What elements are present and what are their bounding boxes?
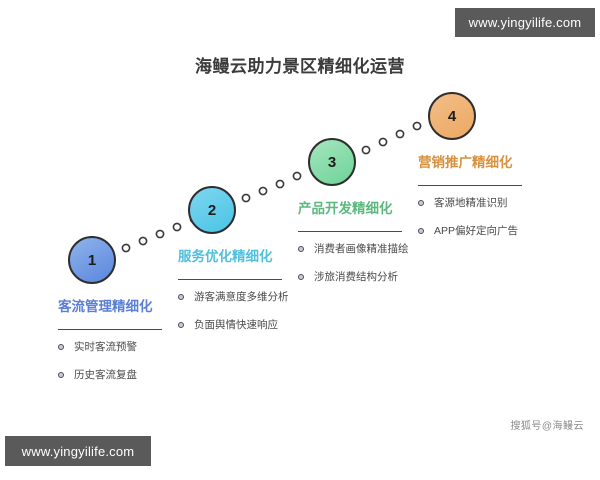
list-item: 负面舆情快速响应 (178, 318, 294, 333)
step-2-divider (178, 279, 282, 280)
list-item: 历史客流复盘 (58, 368, 174, 383)
step-4-number-badge: 4 (428, 92, 476, 140)
bullet-dot-icon (58, 372, 64, 378)
list-item-label: 游客满意度多维分析 (194, 291, 289, 303)
step-2-heading: 服务优化精细化 (178, 247, 286, 266)
list-item-label: 历史客流复盘 (74, 369, 137, 381)
list-item: 客源地精准识别 (418, 196, 534, 211)
watermark-bottom-left: www.yingyilife.com (5, 436, 151, 466)
step-1-divider (58, 329, 162, 330)
step-3-divider (298, 231, 402, 232)
step-3[interactable]: 3 产品开发精细化 消费者画像精准描绘 涉旅消费结构分析 (298, 138, 418, 299)
page-title: 海鳗云助力景区精细化运营 (0, 52, 600, 77)
bullet-dot-icon (58, 344, 64, 350)
bullet-dot-icon (418, 228, 424, 234)
bullet-dot-icon (298, 246, 304, 252)
list-item-label: 消费者画像精准描绘 (314, 243, 409, 255)
step-4[interactable]: 4 营销推广精细化 客源地精准识别 APP偏好定向广告 (418, 92, 538, 253)
step-4-heading: 营销推广精细化 (418, 153, 526, 172)
step-1[interactable]: 1 客流管理精细化 实时客流预警 历史客流复盘 (58, 236, 178, 397)
step-1-heading: 客流管理精细化 (58, 297, 166, 316)
bullet-dot-icon (178, 322, 184, 328)
list-item-label: APP偏好定向广告 (434, 225, 518, 237)
step-2-bullet-list: 游客满意度多维分析 负面舆情快速响应 (178, 290, 294, 333)
list-item-label: 实时客流预警 (74, 341, 137, 353)
step-3-heading: 产品开发精细化 (298, 199, 406, 218)
step-1-number-badge: 1 (68, 236, 116, 284)
step-3-number-badge: 3 (308, 138, 356, 186)
bullet-dot-icon (418, 200, 424, 206)
step-4-divider (418, 185, 522, 186)
step-2-number-badge: 2 (188, 186, 236, 234)
list-item: 游客满意度多维分析 (178, 290, 294, 305)
list-item-label: 负面舆情快速响应 (194, 319, 278, 331)
bullet-dot-icon (298, 274, 304, 280)
list-item-label: 涉旅消费结构分析 (314, 271, 398, 283)
watermark-top-right: www.yingyilife.com (455, 8, 595, 37)
step-4-bullet-list: 客源地精准识别 APP偏好定向广告 (418, 196, 534, 239)
step-3-bullet-list: 消费者画像精准描绘 涉旅消费结构分析 (298, 242, 414, 285)
list-item: 消费者画像精准描绘 (298, 242, 414, 257)
list-item-label: 客源地精准识别 (434, 197, 508, 209)
step-2[interactable]: 2 服务优化精细化 游客满意度多维分析 负面舆情快速响应 (178, 186, 298, 347)
list-item: 实时客流预警 (58, 340, 174, 355)
step-1-bullet-list: 实时客流预警 历史客流复盘 (58, 340, 174, 383)
sohu-account-signature: 搜狐号@海鳗云 (510, 417, 584, 432)
bullet-dot-icon (178, 294, 184, 300)
list-item: 涉旅消费结构分析 (298, 270, 414, 285)
list-item: APP偏好定向广告 (418, 224, 534, 239)
